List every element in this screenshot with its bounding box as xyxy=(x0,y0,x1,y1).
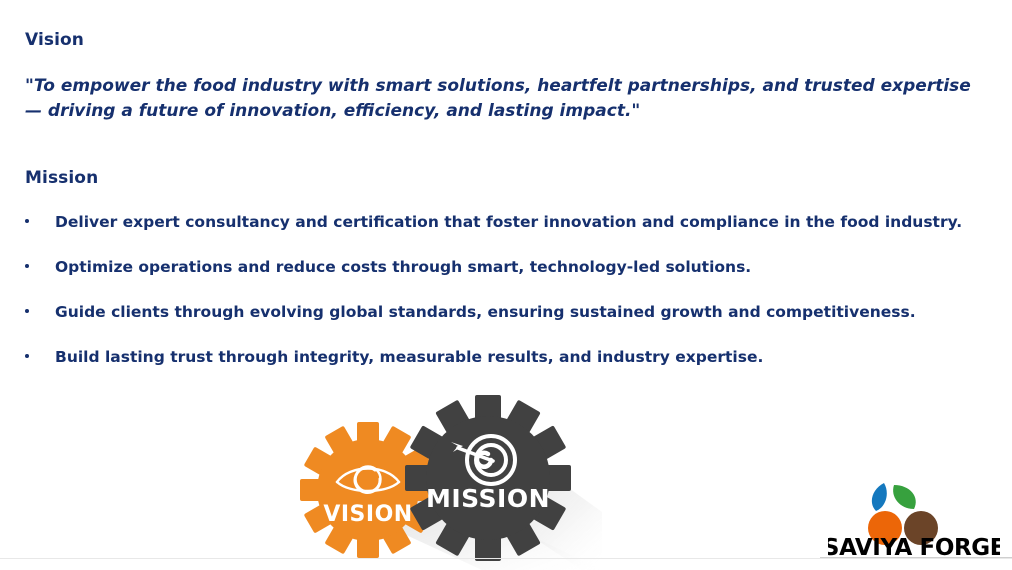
list-item: Guide clients through evolving global st… xyxy=(0,302,1012,347)
mission-bullet-text: Build lasting trust through integrity, m… xyxy=(55,347,763,367)
mission-gear-label: MISSION xyxy=(426,484,550,513)
bullet-marker-icon xyxy=(25,354,29,358)
bullet-marker-icon xyxy=(25,264,29,268)
vision-gear-label: VISION xyxy=(323,502,412,527)
leaf-blue-icon xyxy=(872,483,887,511)
list-item: Build lasting trust through integrity, m… xyxy=(0,347,1012,392)
logo-wordmark: SAVIYA FORGE xyxy=(828,535,1000,557)
slide-canvas: Vision "To empower the food industry wit… xyxy=(0,0,1012,570)
mission-bullet-list: Deliver expert consultancy and certifica… xyxy=(0,212,1012,392)
vision-statement: "To empower the food industry with smart… xyxy=(25,74,977,124)
list-item: Deliver expert consultancy and certifica… xyxy=(0,212,1012,257)
mission-bullet-text: Guide clients through evolving global st… xyxy=(55,302,916,322)
mission-bullet-text: Deliver expert consultancy and certifica… xyxy=(55,212,962,232)
mission-heading: Mission xyxy=(25,168,98,188)
list-item: Optimize operations and reduce costs thr… xyxy=(0,257,1012,302)
bullet-marker-icon xyxy=(25,309,29,313)
leaf-green-icon xyxy=(893,485,916,509)
mission-bullet-text: Optimize operations and reduce costs thr… xyxy=(55,257,751,277)
bullet-marker-icon xyxy=(25,219,29,223)
footer-divider xyxy=(0,558,1012,559)
vision-heading: Vision xyxy=(25,30,84,50)
saviya-forge-logo: SAVIYA FORGE xyxy=(828,475,1000,557)
footer-divider-accent xyxy=(820,557,1012,558)
vision-mission-gears-graphic: VISION xyxy=(282,392,602,570)
